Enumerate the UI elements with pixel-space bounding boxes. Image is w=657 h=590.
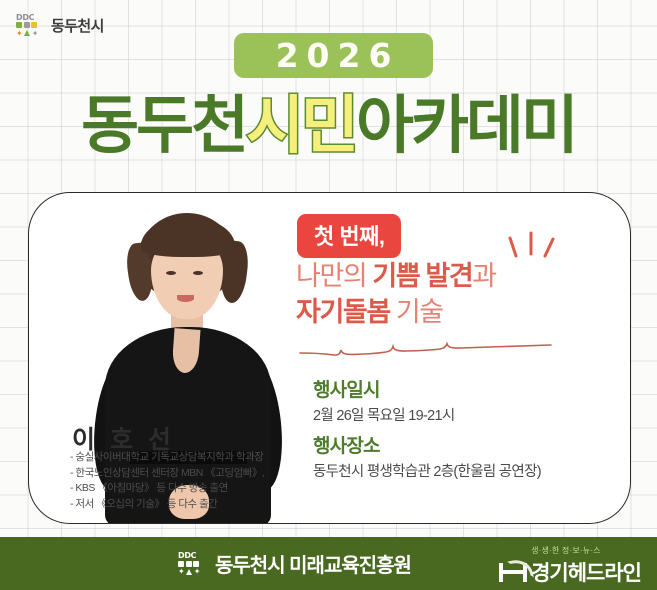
order-badge: 첫 번째,: [297, 214, 401, 258]
footer-org: DDC ✦✦ 동두천시 미래교육진흥원: [178, 549, 411, 578]
order-badge-label: 첫 번째,: [314, 224, 384, 249]
headline-line-2: 자기돌봄 기술: [296, 294, 626, 330]
footer-bar: DDC ✦✦ 동두천시 미래교육진흥원 생·생·한 정·보·뉴·스 경기헤드라인: [0, 537, 657, 590]
press-tagline: 생·생·한 정·보·뉴·스: [531, 545, 641, 556]
headline-1b: 기쁨 발견: [372, 261, 472, 291]
bio-line: - 숭실사이버대학교 기독교상담복지학과 학과장: [70, 450, 264, 466]
city-brand: DDC ✦ ✦ 동두천시: [16, 12, 104, 38]
poster-root: DDC ✦ ✦ 동두천시 2026 동두천시민아카데미: [0, 0, 657, 590]
title-part-2: 시민: [246, 91, 356, 161]
event-date-value: 2월 26일 목요일 19-21시: [313, 404, 541, 428]
speaker-bio: - 숭실사이버대학교 기독교상담복지학과 학과장 - 한국노인상담센터 센터장 …: [70, 450, 264, 512]
title-part-3: 아카데미: [356, 91, 576, 161]
headline-2b: 기술: [390, 297, 443, 327]
title-part-1: 동두천: [81, 91, 246, 161]
event-date-label: 행사일시: [313, 378, 541, 404]
event-place-value: 동두천시 평생학습관 2층(한울림 공연장): [313, 460, 541, 484]
city-brand-name: 동두천시: [51, 15, 104, 36]
bio-line: - KBS 《아침마당》 등 다수 방송 출연: [70, 481, 264, 497]
headline-1a: 나만의: [296, 261, 372, 291]
event-info: 행사일시 2월 26일 목요일 19-21시 행사장소 동두천시 평생학습관 2…: [313, 378, 541, 490]
footer-org-name: 동두천시 미래교육진흥원: [215, 549, 411, 578]
year-badge: 2026: [234, 33, 433, 78]
ddc-logo-letters-footer: DDC: [178, 552, 196, 559]
wave-divider: [298, 342, 553, 358]
bio-line: - 한국노인상담센터 센터장 MBN 《고딩엄빠》,: [70, 466, 264, 482]
headline-1c: 과: [472, 261, 495, 291]
ddc-logo-letters: DDC: [16, 14, 34, 21]
ddc-logo-icon: DDC ✦ ✦: [16, 12, 46, 38]
page-title: 동두천시민아카데미: [0, 88, 657, 164]
press-h-icon: [497, 559, 527, 585]
headline: 나만의 기쁨 발견과 자기돌봄 기술: [296, 258, 626, 330]
bio-line: - 저서 《오십의 기술》 등 다수 출간: [70, 497, 264, 513]
sparkle-icon: [508, 230, 556, 258]
year-badge-label: 2026: [268, 36, 400, 75]
headline-2a: 자기돌봄: [296, 297, 390, 327]
ddc-logo-icon-footer: DDC ✦✦: [178, 551, 208, 577]
press-name: 경기헤드라인: [531, 557, 641, 587]
headline-line-1: 나만의 기쁨 발견과: [296, 258, 626, 294]
event-place-label: 행사장소: [313, 434, 541, 460]
press-logo: 생·생·한 정·보·뉴·스 경기헤드라인: [497, 545, 641, 587]
